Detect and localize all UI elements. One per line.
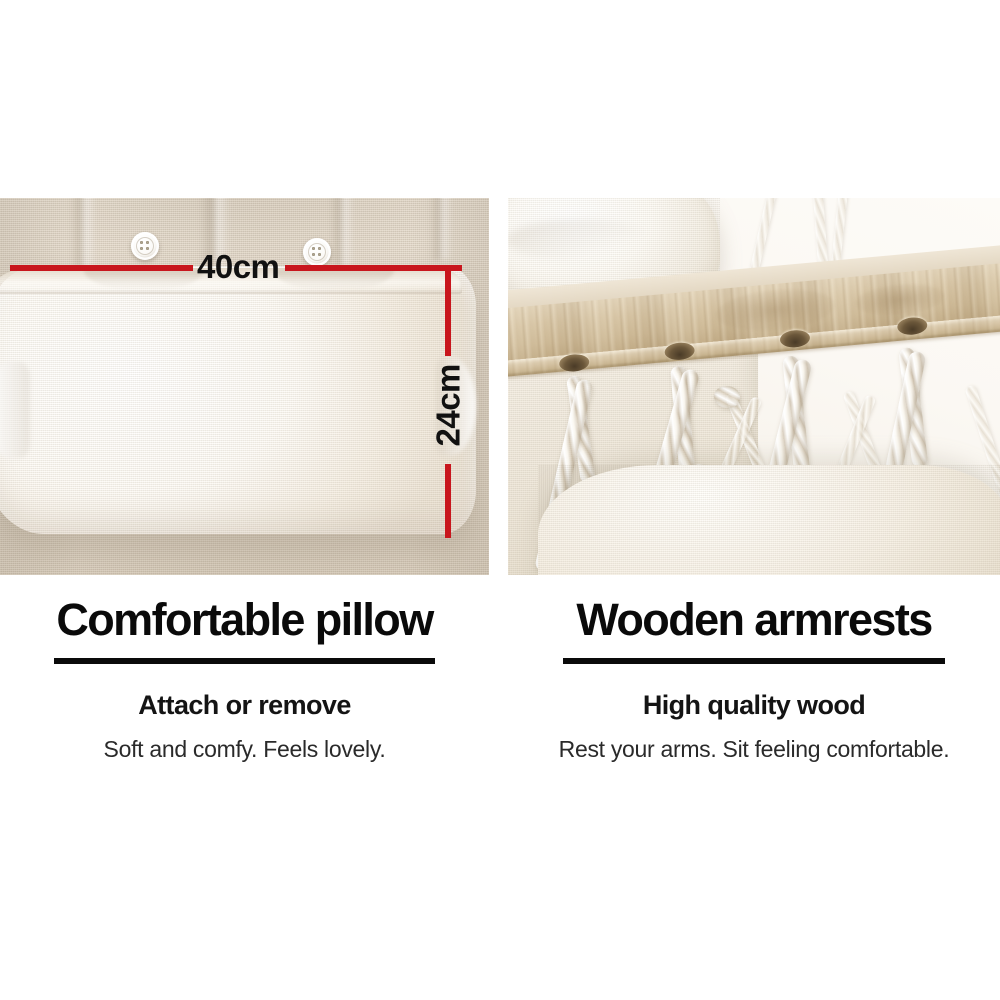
button-hole xyxy=(146,247,149,250)
pillow-button xyxy=(303,238,331,266)
pillow-button xyxy=(131,232,159,260)
width-dimension-label: 40cm xyxy=(197,250,279,283)
height-dimension-label: 24cm xyxy=(432,369,465,447)
height-dimension-line-upper xyxy=(445,268,451,356)
button-hole xyxy=(146,241,149,244)
pillow-feature-description: Soft and comfy. Feels lovely. xyxy=(0,736,489,763)
armrest-feature-description: Rest your arms. Sit feeling comfortable. xyxy=(508,736,1000,763)
button-hole xyxy=(318,253,321,256)
button-hole xyxy=(312,253,315,256)
button-hole xyxy=(140,241,143,244)
seat-cushion xyxy=(538,465,1000,575)
button-hole xyxy=(318,247,321,250)
armrest-photo-panel xyxy=(508,198,1000,575)
pillow-left-corner xyxy=(0,362,30,458)
pillow-photo-panel: 40cm 24cm xyxy=(0,198,489,575)
pillow-feature-subtitle: Attach or remove xyxy=(0,690,489,720)
armrest-feature-title: Wooden armrests xyxy=(508,596,1000,644)
button-hole xyxy=(140,247,143,250)
pillow-title-underline xyxy=(54,658,435,664)
width-dimension-line-left xyxy=(10,265,193,271)
pillow-feature-title: Comfortable pillow xyxy=(0,596,489,644)
armrest-feature-text: Wooden armrests High quality wood Rest y… xyxy=(508,596,1000,763)
button-hole xyxy=(312,247,315,250)
cushion-weave-texture xyxy=(538,465,1000,575)
pillow-fold-shadow xyxy=(508,220,656,260)
rope-knot xyxy=(714,386,740,408)
pillow-body xyxy=(0,266,476,534)
height-dimension-line-lower xyxy=(445,464,451,538)
armrest-title-underline xyxy=(563,658,945,664)
infographic-canvas: 40cm 24cm xyxy=(0,0,1000,1000)
armrest-feature-subtitle: High quality wood xyxy=(508,690,1000,720)
width-dimension-line-right xyxy=(285,265,462,271)
pillow-weave-texture xyxy=(0,266,476,534)
pillow-feature-text: Comfortable pillow Attach or remove Soft… xyxy=(0,596,489,763)
